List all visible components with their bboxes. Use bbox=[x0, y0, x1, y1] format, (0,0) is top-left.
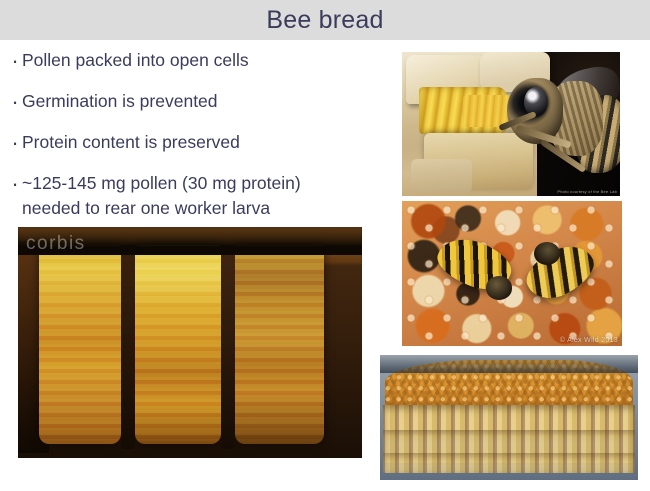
bee-bread-cell bbox=[39, 245, 122, 444]
list-item: Germination is prevented bbox=[8, 89, 396, 117]
photo-shadow bbox=[18, 227, 362, 255]
pollen-layer-bands bbox=[39, 245, 122, 444]
cell-wall-divider bbox=[221, 245, 235, 448]
bullet-dot-icon bbox=[8, 89, 22, 117]
image-bee-bread-cells: corbis bbox=[18, 227, 362, 458]
photo-shadow bbox=[380, 355, 638, 373]
bullet-text: ~125-145 mg pollen (30 mg protein) neede… bbox=[22, 171, 301, 221]
bullet-text: Pollen packed into open cells bbox=[22, 48, 249, 73]
bee-bread-cell bbox=[135, 245, 221, 444]
bullet-text: Protein content is preserved bbox=[22, 130, 240, 155]
pollen-layer-bands bbox=[235, 245, 324, 444]
image-comb-cross-section bbox=[380, 355, 638, 480]
bullet-text: Germination is prevented bbox=[22, 89, 218, 114]
slide-title-bar: Bee bread bbox=[0, 0, 650, 40]
bee-bread-cell bbox=[235, 245, 324, 444]
image-bees-on-comb: © Alex Wild 2013 bbox=[402, 201, 622, 346]
pollen-cell-row bbox=[383, 453, 636, 473]
comb-cell-lower-left bbox=[411, 159, 472, 194]
bullet-dot-icon bbox=[8, 48, 22, 76]
pollen-layer-bands bbox=[135, 245, 221, 444]
list-item: ~125-145 mg pollen (30 mg protein) neede… bbox=[8, 171, 396, 221]
image-bee-closeup: Photo courtesy of the Bee Lab bbox=[402, 52, 620, 196]
bullet-dot-icon bbox=[8, 171, 22, 199]
bee-left-head bbox=[486, 276, 512, 299]
list-item: Pollen packed into open cells bbox=[8, 48, 396, 76]
list-item: Protein content is preserved bbox=[8, 130, 396, 158]
page-title: Bee bread bbox=[266, 8, 383, 33]
cell-wall-divider bbox=[121, 245, 135, 448]
bullet-list: Pollen packed into open cells Germinatio… bbox=[8, 48, 396, 234]
bullet-dot-icon bbox=[8, 130, 22, 158]
bee-right-head bbox=[534, 242, 560, 265]
bee-eye bbox=[524, 87, 548, 117]
